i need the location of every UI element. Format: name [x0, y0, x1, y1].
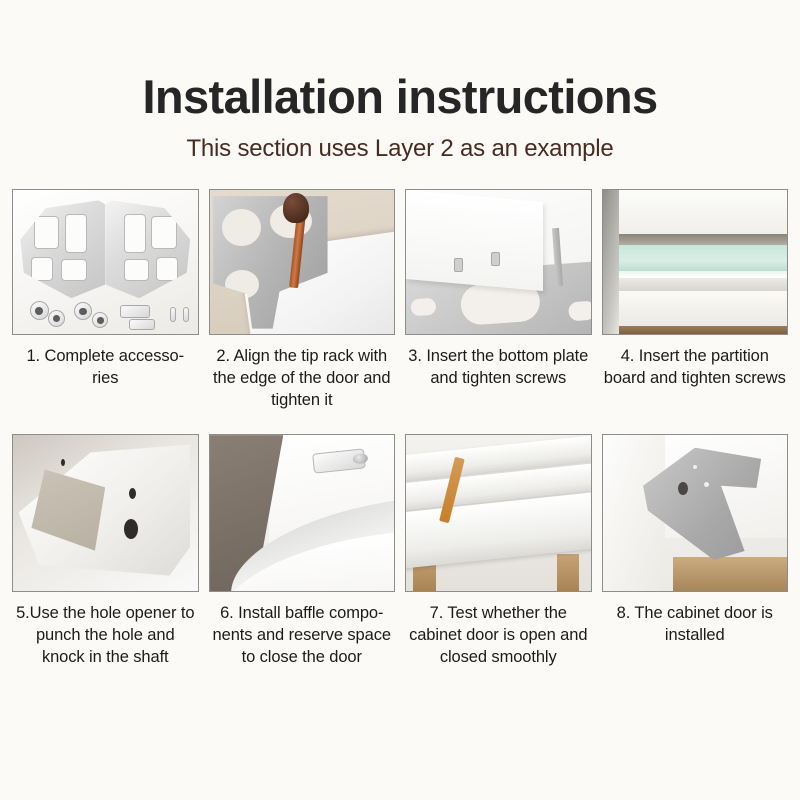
install-baffle-scene: [210, 435, 395, 591]
washer-1: [30, 301, 49, 320]
upper-shelf-shape: [603, 190, 788, 233]
bracket-right-shape: [105, 200, 190, 298]
bottom-plate-scene: [406, 190, 591, 334]
shelf-gap-shape: [603, 278, 788, 291]
step-3: 3. Insert the bottom plate and tighten s…: [405, 189, 592, 412]
steps-row-2: 5.Use the hole opener to punch the hole …: [0, 434, 800, 669]
pin-1: [170, 307, 176, 322]
page-header: Installation instructions This section u…: [0, 0, 800, 163]
complete-accessories-photo: [12, 189, 199, 335]
step-2: 2. Align the tip rack with the edge of t…: [209, 189, 396, 412]
punch-hole-scene: [13, 435, 198, 591]
step-8: 8. The cabinet door is installed: [602, 434, 789, 669]
step-6: 6. Install baffle compo- nents and reser…: [209, 434, 396, 669]
align-tip-rack-photo: [209, 189, 396, 335]
step-4-caption: 4. Insert the partition board and tighte…: [602, 346, 789, 390]
steps-row-1: 1. Complete accesso- ries 2. Align the t…: [0, 189, 800, 412]
glass-partition-shape: [603, 245, 788, 271]
installation-instructions-page: Installation instructions This section u…: [0, 0, 800, 800]
glass-edge-shape: [603, 271, 788, 278]
step-5-caption: 5.Use the hole opener to punch the hole …: [12, 603, 199, 669]
step-7-caption: 7. Test whether the cabinet door is open…: [405, 603, 592, 669]
pin-2: [183, 307, 189, 322]
cabinet-door-installed-photo: [602, 434, 789, 592]
plate-tab-1: [454, 258, 463, 272]
step-3-caption: 3. Insert the bottom plate and tighten s…: [405, 346, 592, 390]
align-rack-scene: [210, 190, 395, 334]
screwdriver-handle: [283, 193, 309, 223]
punched-hole-large: [124, 519, 138, 539]
step-5: 5.Use the hole opener to punch the hole …: [12, 434, 199, 669]
bracket-block-1: [120, 305, 150, 318]
cabinet-leg-right: [557, 554, 579, 591]
step-1-caption: 1. Complete accesso- ries: [12, 346, 199, 390]
bracket-screw-1: [704, 482, 709, 487]
step-4: 4. Insert the partition board and tighte…: [602, 189, 789, 412]
step-8-caption: 8. The cabinet door is installed: [602, 603, 789, 647]
accessories-scene: [13, 190, 198, 334]
floor-shape: [603, 326, 788, 335]
step-1: 1. Complete accesso- ries: [12, 189, 199, 412]
shelf-shadow-shape: [603, 234, 788, 246]
page-title: Installation instructions: [0, 72, 800, 121]
punch-hole-photo: [12, 434, 199, 592]
partition-board-scene: [603, 190, 788, 334]
white-plate-shape: [406, 190, 543, 291]
insert-partition-board-photo: [602, 189, 789, 335]
step-6-caption: 6. Install baffle compo- nents and reser…: [209, 603, 396, 669]
install-baffle-photo: [209, 434, 396, 592]
washer-3: [74, 302, 92, 320]
bracket-screw-2: [693, 465, 697, 469]
wood-floor-shape: [673, 557, 787, 591]
plate-tab-2: [491, 252, 500, 266]
washer-4: [92, 312, 108, 328]
bracket-block-2: [129, 319, 155, 330]
punched-hole-tiny: [61, 459, 65, 466]
page-subtitle: This section uses Layer 2 as an example: [0, 135, 800, 163]
cabinet-side-shape: [603, 190, 620, 334]
insert-bottom-plate-photo: [405, 189, 592, 335]
step-7: 7. Test whether the cabinet door is open…: [405, 434, 592, 669]
cabinet-installed-scene: [603, 435, 788, 591]
lower-shelf-shape: [603, 291, 788, 326]
test-door-photo: [405, 434, 592, 592]
step-2-caption: 2. Align the tip rack with the edge of t…: [209, 346, 396, 412]
test-door-scene: [406, 435, 591, 591]
washer-2: [48, 310, 65, 327]
bracket-left-shape: [20, 200, 105, 298]
